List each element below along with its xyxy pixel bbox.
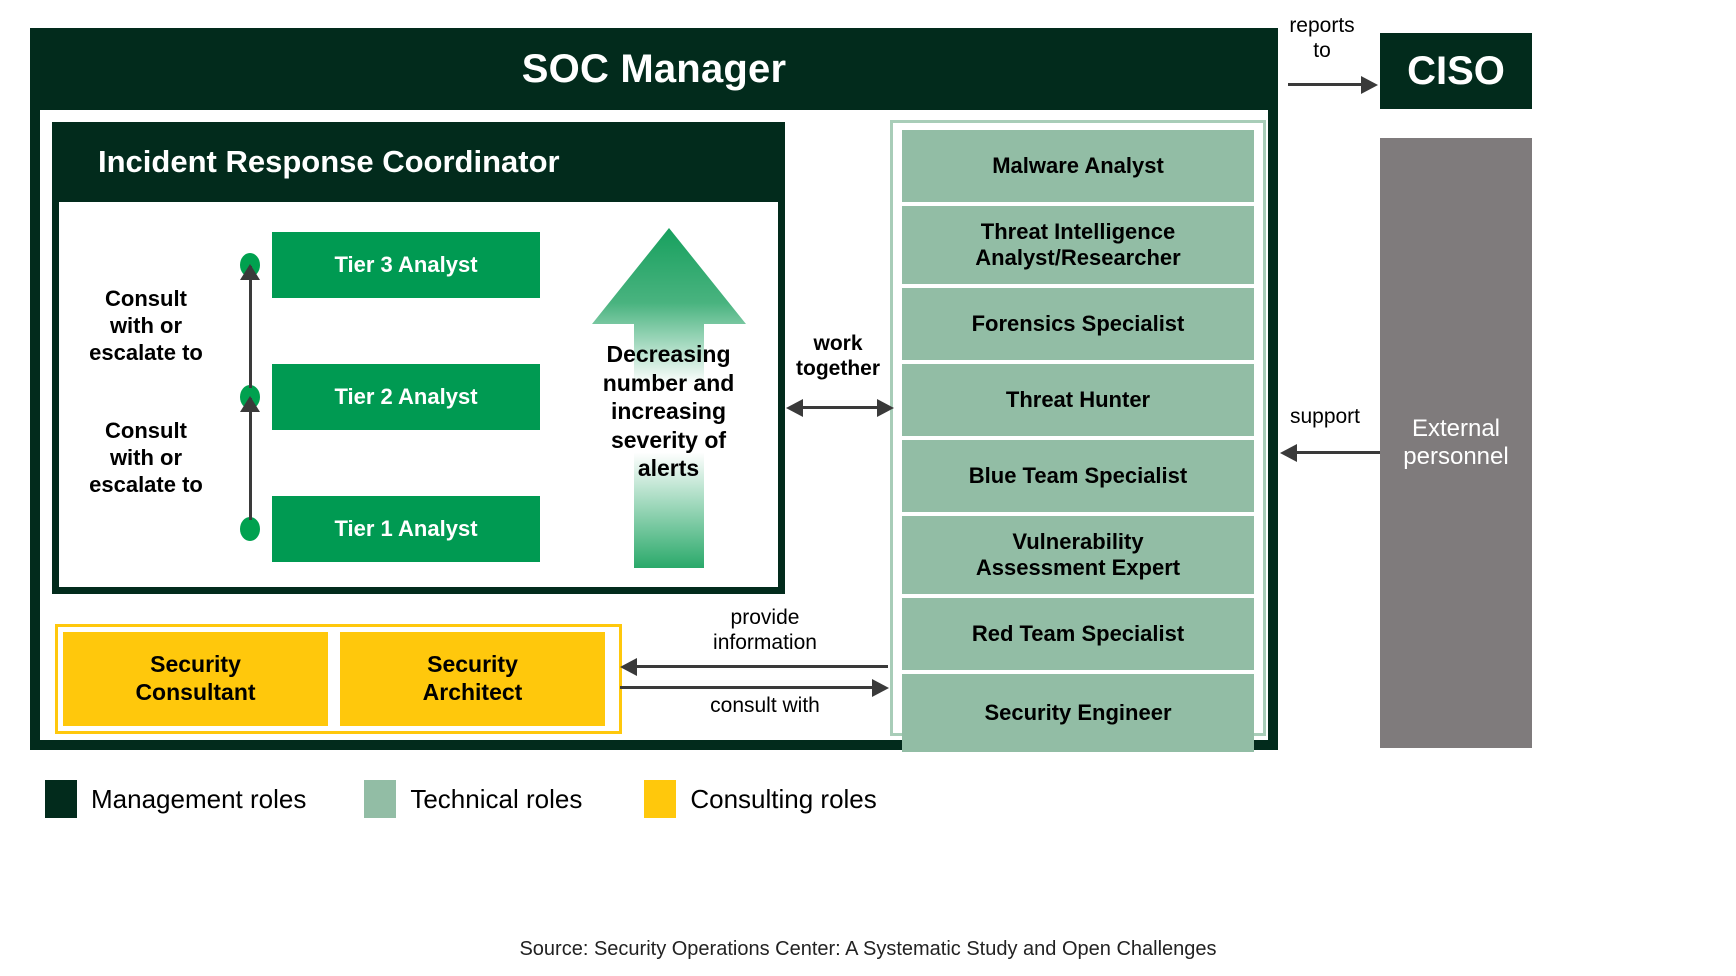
legend-label: Consulting roles bbox=[690, 784, 876, 815]
reports-to-arrowhead-icon bbox=[1361, 76, 1378, 94]
legend-swatch bbox=[644, 780, 676, 818]
provide-information-arrow-line bbox=[636, 665, 888, 668]
soc-manager-header: SOC Manager bbox=[30, 28, 1278, 110]
escalation-arrowhead-lower-icon bbox=[240, 396, 260, 412]
reports-to-label: reportsto bbox=[1268, 14, 1376, 64]
escalation-arrowhead-upper-icon bbox=[240, 264, 260, 280]
escalation-label-upper: Consultwith orescalate to bbox=[58, 286, 234, 366]
tier-3-analyst-box: Tier 3 Analyst bbox=[272, 232, 540, 298]
reports-to-arrow-line bbox=[1288, 83, 1362, 86]
consult-with-arrow-line bbox=[620, 686, 874, 689]
technical-role-row: Threat IntelligenceAnalyst/Researcher bbox=[902, 206, 1254, 284]
provide-information-arrowhead-icon bbox=[620, 658, 637, 676]
work-together-arrowhead-right-icon bbox=[877, 399, 894, 417]
support-label: support bbox=[1272, 405, 1378, 430]
soc-org-diagram: SOC Manager Incident Response Coordinato… bbox=[0, 0, 1736, 976]
incident-response-coordinator-title: Incident Response Coordinator bbox=[52, 144, 560, 180]
tier-2-analyst-label: Tier 2 Analyst bbox=[334, 384, 477, 410]
consult-with-label: consult with bbox=[660, 694, 870, 719]
escalation-line-lower bbox=[249, 398, 252, 520]
legend-item: Technical roles bbox=[364, 780, 582, 818]
escalation-line-upper bbox=[249, 266, 252, 388]
technical-role-row: Security Engineer bbox=[902, 674, 1254, 752]
incident-response-coordinator-header: Incident Response Coordinator bbox=[52, 122, 785, 202]
technical-role-label: Security Engineer bbox=[984, 700, 1171, 726]
security-architect-label: SecurityArchitect bbox=[423, 651, 523, 706]
security-consultant-label: SecurityConsultant bbox=[135, 651, 255, 706]
technical-role-label: Malware Analyst bbox=[992, 153, 1164, 179]
legend-swatch bbox=[364, 780, 396, 818]
technical-role-row: Forensics Specialist bbox=[902, 288, 1254, 360]
legend-label: Technical roles bbox=[410, 784, 582, 815]
alert-volume-arrow-label: Decreasingnumber andincreasingseverity o… bbox=[586, 340, 751, 483]
tier-1-analyst-label: Tier 1 Analyst bbox=[334, 516, 477, 542]
technical-role-label: VulnerabilityAssessment Expert bbox=[976, 529, 1180, 582]
technical-role-label: Blue Team Specialist bbox=[969, 463, 1187, 489]
work-together-arrow-line bbox=[800, 406, 878, 409]
legend-item: Management roles bbox=[45, 780, 306, 818]
technical-role-label: Forensics Specialist bbox=[972, 311, 1185, 337]
work-together-label: worktogether bbox=[786, 332, 890, 382]
technical-role-row: Red Team Specialist bbox=[902, 598, 1254, 670]
tier-2-analyst-box: Tier 2 Analyst bbox=[272, 364, 540, 430]
technical-role-label: Threat IntelligenceAnalyst/Researcher bbox=[975, 219, 1180, 272]
tier-1-node-dot bbox=[240, 517, 260, 541]
technical-role-row: VulnerabilityAssessment Expert bbox=[902, 516, 1254, 594]
technical-roles-list: Malware AnalystThreat IntelligenceAnalys… bbox=[902, 130, 1254, 756]
provide-information-label: provideinformation bbox=[660, 606, 870, 656]
technical-role-label: Red Team Specialist bbox=[972, 621, 1184, 647]
security-architect-box: SecurityArchitect bbox=[340, 632, 605, 726]
tier-1-analyst-box: Tier 1 Analyst bbox=[272, 496, 540, 562]
work-together-arrowhead-left-icon bbox=[786, 399, 803, 417]
ciso-box: CISO bbox=[1380, 33, 1532, 109]
consult-with-arrowhead-icon bbox=[872, 679, 889, 697]
legend-label: Management roles bbox=[91, 784, 306, 815]
technical-role-row: Malware Analyst bbox=[902, 130, 1254, 202]
security-consultant-box: SecurityConsultant bbox=[63, 632, 328, 726]
soc-manager-title: SOC Manager bbox=[522, 47, 787, 92]
support-arrow-line bbox=[1294, 451, 1380, 454]
technical-role-row: Threat Hunter bbox=[902, 364, 1254, 436]
technical-role-label: Threat Hunter bbox=[1006, 387, 1150, 413]
support-arrowhead-icon bbox=[1280, 444, 1297, 462]
technical-role-row: Blue Team Specialist bbox=[902, 440, 1254, 512]
legend-item: Consulting roles bbox=[644, 780, 876, 818]
escalation-label-lower: Consultwith orescalate to bbox=[58, 418, 234, 498]
tier-3-analyst-label: Tier 3 Analyst bbox=[334, 252, 477, 278]
ciso-label: CISO bbox=[1407, 49, 1505, 94]
legend-swatch bbox=[45, 780, 77, 818]
source-note: Source: Security Operations Center: A Sy… bbox=[0, 938, 1736, 961]
external-personnel-box: Externalpersonnel bbox=[1380, 138, 1532, 748]
external-personnel-label: Externalpersonnel bbox=[1403, 415, 1508, 472]
legend: Management rolesTechnical rolesConsultin… bbox=[45, 780, 877, 818]
